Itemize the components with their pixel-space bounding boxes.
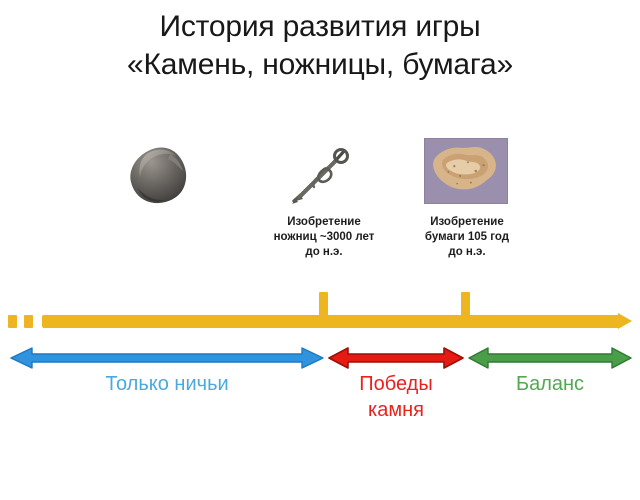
page-title: История развития игры «Камень, ножницы, …: [0, 8, 640, 84]
period-label-stone: Победы камня: [328, 371, 464, 423]
timeline-tick-scissors: [319, 292, 328, 320]
period-arrow-draws: [10, 346, 324, 370]
page-title-line-1: История развития игры: [0, 8, 640, 46]
period-arrow-balance: [468, 346, 632, 370]
period-arrow-stone: [328, 346, 464, 370]
period-label-balance: Баланс: [468, 371, 632, 397]
caption-paper: Изобретение бумаги 105 год до н.э.: [400, 215, 534, 260]
caption-paper-line-3: до н.э.: [400, 245, 534, 260]
timeline-dash-mark-1: [8, 315, 17, 328]
caption-scissors: Изобретение ножниц ~3000 лет до н.э.: [248, 215, 400, 260]
caption-scissors-line-3: до н.э.: [248, 245, 400, 260]
period-label-draws-line-1: Только ничьи: [10, 371, 324, 397]
caption-scissors-line-1: Изобретение: [248, 215, 400, 230]
caption-paper-line-2: бумаги 105 год: [400, 230, 534, 245]
period-label-stone-line-1: Победы: [328, 371, 464, 397]
timeline-dash-mark-2: [24, 315, 33, 328]
timeline-bar: [42, 315, 620, 328]
period-label-stone-line-2: камня: [328, 397, 464, 423]
paper-photo: [424, 138, 508, 204]
page-title-line-2: «Камень, ножницы, бумага»: [0, 46, 640, 84]
timeline-tick-paper: [461, 292, 470, 320]
stone-photo: [118, 140, 194, 208]
caption-scissors-line-2: ножниц ~3000 лет: [248, 230, 400, 245]
timeline-arrowhead-icon: [618, 313, 632, 329]
scissors-photo: [283, 142, 359, 210]
period-label-draws: Только ничьи: [10, 371, 324, 397]
caption-paper-line-1: Изобретение: [400, 215, 534, 230]
period-label-balance-line-1: Баланс: [468, 371, 632, 397]
timeline-infographic: История развития игры «Камень, ножницы, …: [0, 0, 640, 500]
